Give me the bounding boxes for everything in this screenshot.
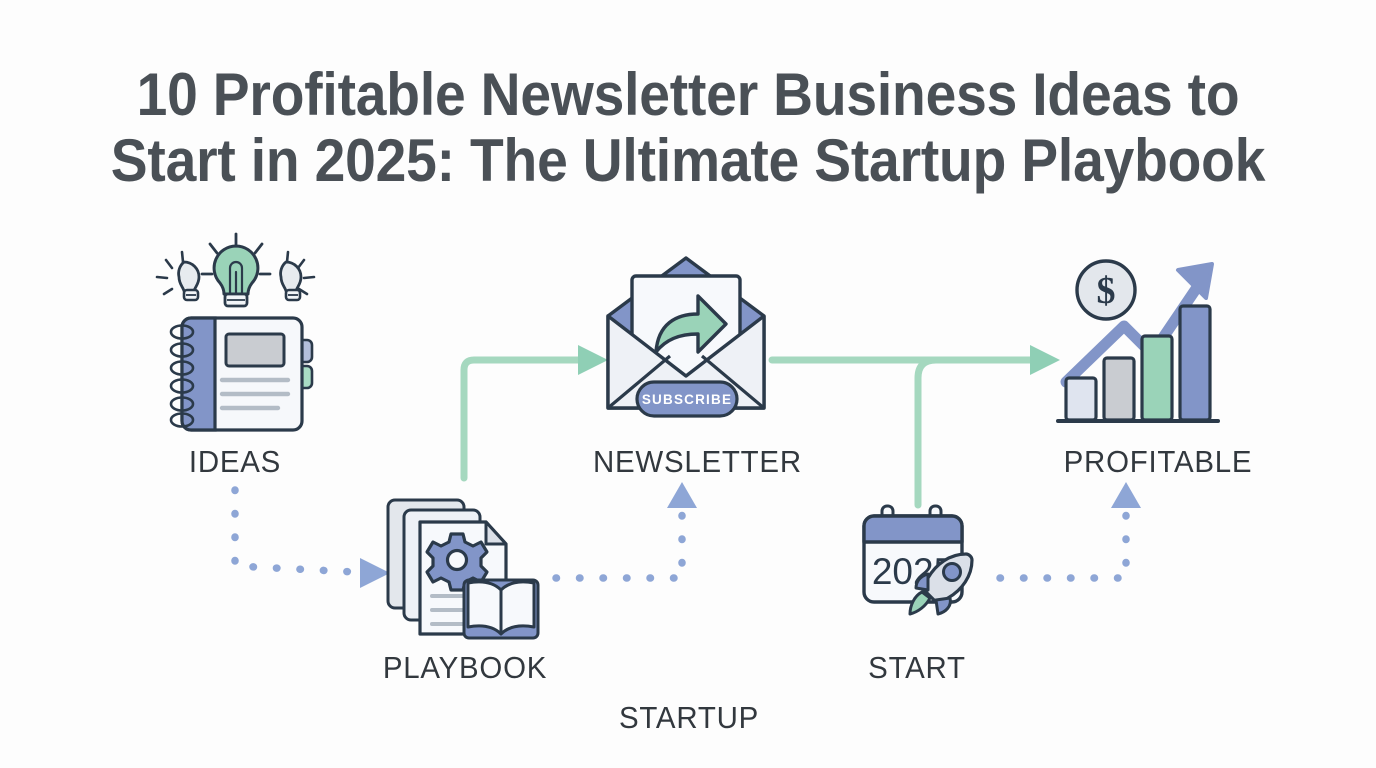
title-line-1: 10 Profitable Newsletter Business Ideas … bbox=[55, 62, 1321, 128]
node-label-profitable: PROFITABLE bbox=[1046, 444, 1270, 480]
connector-ideas-to-playbook bbox=[235, 490, 390, 588]
connector-playbook-to-newsletter-dotted bbox=[556, 482, 697, 578]
node-label-ideas: IDEAS bbox=[145, 444, 326, 480]
infographic-canvas: 10 Profitable Newsletter Business Ideas … bbox=[0, 0, 1376, 768]
connector-newsletter-to-profitable bbox=[772, 345, 1060, 375]
subscribe-badge-text: SUBSCRIBE bbox=[642, 392, 732, 407]
title-line-2: Start in 2025: The Ultimate Startup Play… bbox=[55, 128, 1321, 194]
page-title: 10 Profitable Newsletter Business Ideas … bbox=[55, 62, 1321, 194]
open-envelope-share-icon: SUBSCRIBE bbox=[600, 252, 772, 432]
node-label-start: START bbox=[836, 650, 998, 686]
node-label-playbook: PLAYBOOK bbox=[377, 650, 554, 686]
connector-start-to-profitable-line bbox=[918, 360, 960, 505]
calendar-rocket-icon: 2025 bbox=[858, 502, 998, 636]
documents-gear-book-icon bbox=[382, 498, 548, 646]
node-start[interactable]: 2025 bbox=[858, 502, 998, 636]
node-newsletter[interactable]: SUBSCRIBE bbox=[600, 252, 772, 432]
connector-start-to-profitable-dotted bbox=[1000, 482, 1141, 578]
node-label-newsletter: NEWSLETTER bbox=[593, 444, 783, 480]
connector-playbook-to-newsletter bbox=[464, 345, 608, 478]
notebook-lightbulbs-icon bbox=[152, 232, 322, 432]
dollar-sign-glyph: $ bbox=[1097, 270, 1116, 312]
growth-bar-chart-icon: $ bbox=[1052, 248, 1224, 434]
node-profitable[interactable]: $ bbox=[1052, 248, 1224, 434]
node-ideas[interactable] bbox=[152, 232, 322, 432]
footer-label-startup: STARTUP bbox=[601, 700, 778, 736]
node-playbook[interactable] bbox=[382, 498, 548, 646]
